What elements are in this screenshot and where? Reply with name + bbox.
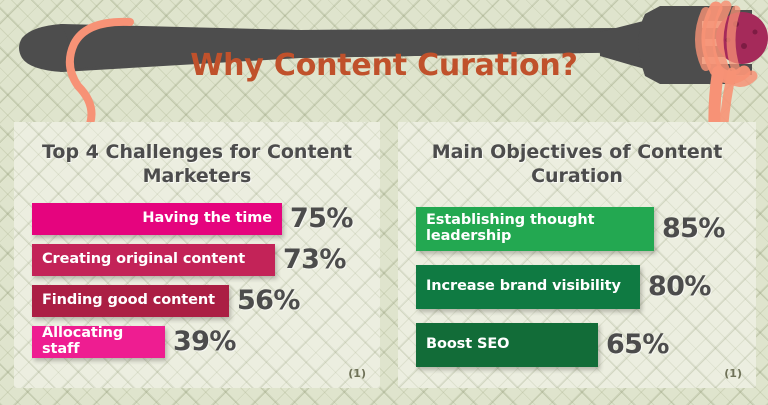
bar-row: Finding good content 56% <box>32 285 380 317</box>
bar-label: Allocating staff <box>42 326 155 357</box>
bar-label: Boost SEO <box>426 337 509 353</box>
bar-value: 56% <box>237 285 300 316</box>
bar-label: Establishing thought leadership <box>426 213 594 244</box>
panel-challenges-heading: Top 4 Challenges for Content Marketers <box>28 140 366 189</box>
bar-label: Having the time <box>142 211 272 227</box>
panel-challenges: Top 4 Challenges for Content Marketers H… <box>14 122 380 388</box>
bar-row: Having the time 75% <box>32 203 380 235</box>
bar-label: Increase brand visibility <box>426 279 621 295</box>
panel-challenges-bars: Having the time 75% Creating original co… <box>14 203 380 358</box>
footnote-marker: (1) <box>724 367 742 380</box>
panel-objectives-bars: Establishing thought leadership 85% Incr… <box>398 207 756 367</box>
bar-value: 80% <box>648 271 711 302</box>
bar-label: Finding good content <box>42 293 215 309</box>
page-title: Why Content Curation? <box>0 48 768 83</box>
bar-row: Creating original content 73% <box>32 244 380 276</box>
infographic-canvas: Why Content Curation? Top 4 Challenges f… <box>0 0 768 405</box>
panel-objectives-heading: Main Objectives of Content Curation <box>412 140 742 189</box>
bar-having-the-time[interactable]: Having the time <box>32 203 282 235</box>
bar-row: Establishing thought leadership 85% <box>416 207 756 251</box>
bar-row: Boost SEO 65% <box>416 323 756 367</box>
bar-row: Increase brand visibility 80% <box>416 265 756 309</box>
bar-creating-original-content[interactable]: Creating original content <box>32 244 275 276</box>
bar-value: 73% <box>283 244 346 275</box>
bar-row: Allocating staff 39% <box>32 326 380 358</box>
bar-label: Creating original content <box>42 252 245 268</box>
bar-allocating-staff[interactable]: Allocating staff <box>32 326 165 358</box>
bar-establishing-thought-leadership[interactable]: Establishing thought leadership <box>416 207 654 251</box>
bar-value: 85% <box>662 213 725 244</box>
bar-boost-seo[interactable]: Boost SEO <box>416 323 598 367</box>
panel-objectives: Main Objectives of Content Curation Esta… <box>398 122 756 388</box>
bar-finding-good-content[interactable]: Finding good content <box>32 285 229 317</box>
bar-value: 39% <box>173 326 236 357</box>
bar-value: 75% <box>290 203 353 234</box>
footnote-marker: (1) <box>348 367 366 380</box>
bar-increase-brand-visibility[interactable]: Increase brand visibility <box>416 265 640 309</box>
bar-value: 65% <box>606 329 669 360</box>
